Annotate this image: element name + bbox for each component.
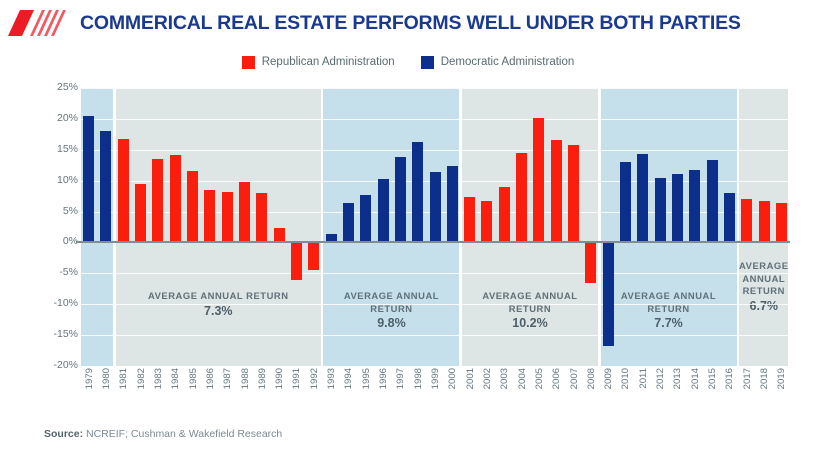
bar-2012[interactable] [655, 178, 666, 243]
x-tick-label-2006: 2006 [551, 368, 562, 389]
x-tick-label-1987: 1987 [222, 368, 233, 389]
x-tick-label-2003: 2003 [499, 368, 510, 389]
x-tick-label-1993: 1993 [326, 368, 337, 389]
bar-1988[interactable] [239, 182, 250, 243]
bar-2017[interactable] [741, 199, 752, 242]
x-tick-label-1980: 1980 [101, 368, 112, 389]
bar-1990[interactable] [274, 228, 285, 242]
bar-1999[interactable] [430, 172, 441, 242]
band-average-note-band-obama: AVERAGE ANNUAL RETURN7.7% [601, 290, 737, 330]
bar-1985[interactable] [187, 171, 198, 242]
slanted-stripes-logo-icon [8, 10, 68, 36]
y-tick-label: 5% [36, 205, 78, 217]
x-tick-label-2016: 2016 [724, 368, 735, 389]
x-tick-label-1995: 1995 [361, 368, 372, 389]
band-average-label: AVERAGE ANNUAL RETURN [739, 260, 789, 296]
gridline [80, 150, 790, 151]
legend-item-republican: Republican Administration [242, 56, 395, 69]
chart-band-band-reagan-bush [116, 88, 321, 366]
bar-2009[interactable] [603, 242, 614, 346]
legend-swatch-republican [242, 56, 255, 69]
bar-1987[interactable] [222, 192, 233, 243]
bar-2005[interactable] [533, 118, 544, 242]
band-average-label: AVERAGE ANNUAL RETURN [148, 290, 289, 301]
bar-1979[interactable] [83, 116, 94, 243]
y-tick-label: -10% [36, 297, 78, 309]
x-tick-label-2014: 2014 [690, 368, 701, 389]
band-average-note-band-bush: AVERAGE ANNUAL RETURN10.2% [462, 290, 598, 330]
source-note: Source: NCREIF; Cushman & Wakefield Rese… [44, 428, 282, 440]
bar-2007[interactable] [568, 145, 579, 243]
bar-1995[interactable] [360, 195, 371, 242]
band-average-label: AVERAGE ANNUAL RETURN [482, 290, 577, 314]
plot-area: AVERAGE ANNUAL RETURN7.3%AVERAGE ANNUAL … [80, 88, 790, 366]
legend-swatch-democratic [421, 56, 434, 69]
x-tick-label-1997: 1997 [395, 368, 406, 389]
x-tick-label-1999: 1999 [430, 368, 441, 389]
x-tick-label-2005: 2005 [534, 368, 545, 389]
source-label: Source: [44, 428, 83, 440]
x-tick-label-1985: 1985 [188, 368, 199, 389]
bar-2018[interactable] [759, 201, 770, 242]
x-tick-label-1988: 1988 [240, 368, 251, 389]
bar-1980[interactable] [100, 131, 111, 243]
bar-1998[interactable] [412, 142, 423, 242]
x-tick-label-1990: 1990 [274, 368, 285, 389]
y-tick-label: 0% [36, 235, 78, 247]
y-tick-label: 25% [36, 81, 78, 93]
y-tick-label: 15% [36, 143, 78, 155]
x-tick-label-2000: 2000 [447, 368, 458, 389]
chart-legend: Republican Administration Democratic Adm… [0, 52, 816, 72]
bar-2006[interactable] [551, 140, 562, 243]
x-tick-label-2013: 2013 [672, 368, 683, 389]
gridline [80, 335, 790, 336]
y-tick-label: 10% [36, 174, 78, 186]
bar-2015[interactable] [707, 160, 718, 242]
x-tick-label-1998: 1998 [413, 368, 424, 389]
source-text: NCREIF; Cushman & Wakefield Research [83, 428, 282, 440]
x-tick-label-2001: 2001 [465, 368, 476, 389]
bar-1983[interactable] [152, 159, 163, 242]
bar-1991[interactable] [291, 242, 302, 279]
band-average-note-band-clinton: AVERAGE ANNUAL RETURN9.8% [323, 290, 459, 330]
band-average-value: 6.7% [739, 300, 788, 313]
x-tick-label-2015: 2015 [707, 368, 718, 389]
bar-1994[interactable] [343, 203, 354, 243]
bar-2019[interactable] [776, 203, 787, 243]
bar-2004[interactable] [516, 153, 527, 243]
band-average-value: 9.8% [323, 317, 459, 330]
x-tick-label-1982: 1982 [136, 368, 147, 389]
bar-2011[interactable] [637, 154, 648, 242]
bar-2000[interactable] [447, 166, 458, 242]
band-average-label: AVERAGE ANNUAL RETURN [344, 290, 439, 314]
x-tick-label-1984: 1984 [170, 368, 181, 389]
y-tick-label: 20% [36, 112, 78, 124]
bar-1984[interactable] [170, 155, 181, 243]
x-tick-label-1992: 1992 [309, 368, 320, 389]
gridline [80, 119, 790, 120]
y-axis: 25%20%15%10%5%0%-5%-10%-15%-20% [36, 88, 78, 366]
bar-1996[interactable] [378, 179, 389, 243]
bar-1981[interactable] [118, 139, 129, 243]
band-average-value: 10.2% [462, 317, 598, 330]
x-tick-label-1983: 1983 [153, 368, 164, 389]
bar-2003[interactable] [499, 187, 510, 243]
x-tick-label-1996: 1996 [378, 368, 389, 389]
bar-1997[interactable] [395, 157, 406, 243]
legend-item-democratic: Democratic Administration [421, 56, 575, 69]
x-tick-label-2009: 2009 [603, 368, 614, 389]
x-tick-label-2004: 2004 [517, 368, 528, 389]
band-average-value: 7.3% [116, 305, 321, 318]
x-tick-label-2017: 2017 [742, 368, 753, 389]
x-tick-label-2018: 2018 [759, 368, 770, 389]
gridline [80, 366, 790, 367]
x-tick-label-2008: 2008 [586, 368, 597, 389]
x-tick-label-1991: 1991 [291, 368, 302, 389]
bar-2001[interactable] [464, 197, 475, 242]
x-tick-label-1989: 1989 [257, 368, 268, 389]
x-tick-label-2002: 2002 [482, 368, 493, 389]
bar-2008[interactable] [585, 242, 596, 282]
gridline [80, 273, 790, 274]
page-title: COMMERICAL REAL ESTATE PERFORMS WELL UND… [80, 12, 741, 35]
bar-1986[interactable] [204, 190, 215, 243]
bar-2016[interactable] [724, 193, 735, 242]
legend-label-republican: Republican Administration [262, 56, 395, 68]
x-tick-label-2019: 2019 [776, 368, 787, 389]
x-tick-label-2011: 2011 [638, 368, 649, 389]
chart-header: COMMERICAL REAL ESTATE PERFORMS WELL UND… [0, 0, 816, 46]
zero-baseline [76, 241, 790, 243]
y-tick-label: -20% [36, 359, 78, 371]
bar-2014[interactable] [689, 170, 700, 243]
y-tick-label: -5% [36, 266, 78, 278]
x-tick-label-2007: 2007 [569, 368, 580, 389]
bar-2013[interactable] [672, 174, 683, 242]
x-axis: 1979198019811982198319841985198619871988… [80, 368, 790, 414]
x-tick-label-2012: 2012 [655, 368, 666, 389]
x-tick-label-1981: 1981 [118, 368, 129, 389]
x-tick-label-1994: 1994 [343, 368, 354, 389]
x-tick-label-2010: 2010 [620, 368, 631, 389]
band-average-value: 7.7% [601, 317, 737, 330]
bar-1992[interactable] [308, 242, 319, 270]
x-tick-label-1986: 1986 [205, 368, 216, 389]
bar-2002[interactable] [481, 201, 492, 242]
x-tick-label-1979: 1979 [84, 368, 95, 389]
bar-1989[interactable] [256, 193, 267, 242]
bar-2010[interactable] [620, 162, 631, 243]
y-tick-label: -15% [36, 328, 78, 340]
gridline [80, 304, 790, 305]
legend-label-democratic: Democratic Administration [441, 56, 575, 68]
gridline [80, 88, 790, 89]
band-average-label: AVERAGE ANNUAL RETURN [621, 290, 716, 314]
bar-1982[interactable] [135, 184, 146, 243]
